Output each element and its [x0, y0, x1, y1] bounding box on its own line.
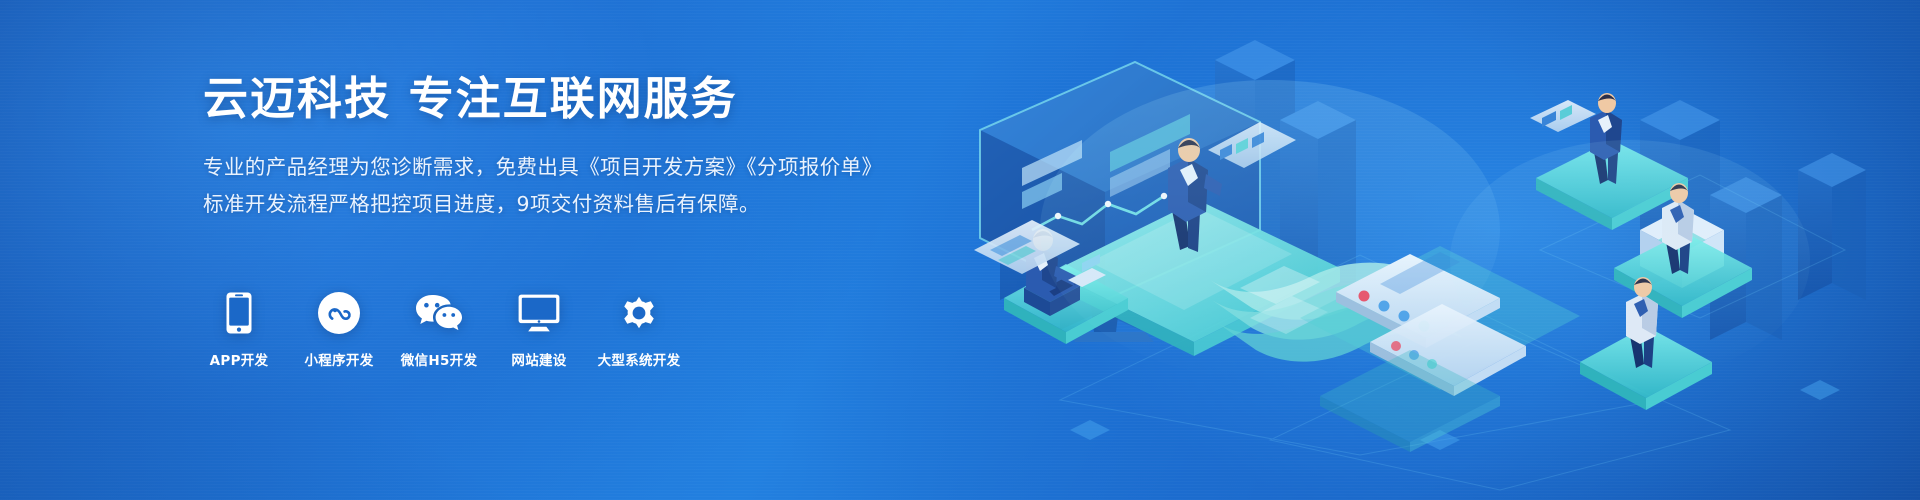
subtitle-line-2: 标准开发流程严格把控项目进度，9项交付资料售后有保障。	[203, 186, 903, 222]
service-item-large-system[interactable]: 大型系统开发	[603, 290, 675, 369]
page-title: 云迈科技 专注互联网服务	[203, 72, 903, 125]
wechat-icon	[414, 290, 464, 336]
service-label: 小程序开发	[305, 349, 374, 369]
service-item-wechat-h5[interactable]: 微信H5开发	[403, 290, 475, 369]
monitor-icon	[517, 290, 561, 336]
hero-banner: 云迈科技 专注互联网服务 专业的产品经理为您诊断需求，免费出具《项目开发方案》《…	[0, 0, 1920, 500]
figure-standing-right	[1662, 183, 1694, 274]
banner-subtitle: 专业的产品经理为您诊断需求，免费出具《项目开发方案》《分项报价单》 标准开发流程…	[203, 149, 903, 222]
gear-icon	[618, 290, 660, 336]
service-label: 微信H5开发	[401, 349, 478, 369]
service-item-app[interactable]: APP开发	[203, 290, 275, 369]
service-label: APP开发	[210, 349, 269, 369]
mobile-phone-icon	[226, 290, 252, 336]
figure-seated-laptop	[1024, 229, 1106, 316]
figure-standing-upper-right	[1590, 93, 1622, 184]
service-item-website[interactable]: 网站建设	[503, 290, 575, 369]
subtitle-line-1: 专业的产品经理为您诊断需求，免费出具《项目开发方案》《分项报价单》	[203, 149, 903, 185]
isometric-tech-illustration	[940, 0, 1920, 500]
figure-standing-lower-right	[1626, 277, 1658, 368]
service-label: 网站建设	[511, 349, 566, 369]
figure-standing-center	[1168, 138, 1222, 252]
service-item-mini-program[interactable]: 小程序开发	[303, 290, 375, 369]
service-label: 大型系统开发	[598, 349, 681, 369]
mini-program-icon	[318, 290, 360, 336]
banner-content: 云迈科技 专注互联网服务 专业的产品经理为您诊断需求，免费出具《项目开发方案》《…	[203, 72, 903, 222]
service-list: APP开发 小程序开发	[203, 290, 675, 369]
